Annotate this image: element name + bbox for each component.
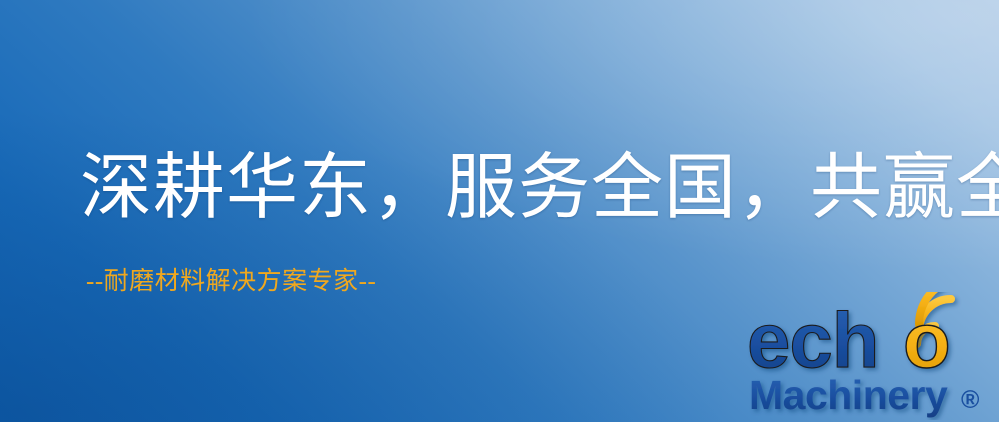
- registered-trademark-icon: ®: [961, 386, 980, 414]
- promo-banner: 深耕华东，服务全国，共赢全球 --耐磨材料解决方案专家--: [0, 0, 999, 422]
- logo-text-ech: ech: [747, 296, 878, 384]
- banner-subtitle: --耐磨材料解决方案专家--: [86, 268, 376, 296]
- echo-machinery-logo[interactable]: ech o Machinery ®: [745, 292, 995, 420]
- banner-headline: 深耕华东，服务全国，共赢全球: [80, 152, 999, 224]
- logo-text-o: o: [903, 296, 951, 384]
- logo-text-machinery: Machinery: [749, 372, 948, 418]
